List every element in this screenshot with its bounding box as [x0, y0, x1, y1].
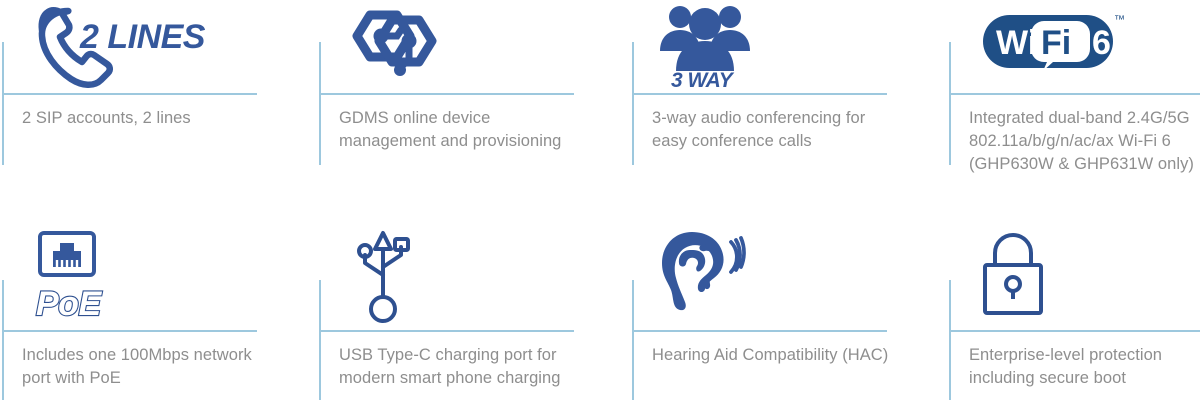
icon-zone: 3 WAY	[632, 0, 922, 94]
icon-zone	[632, 220, 922, 330]
vertical-rule	[949, 42, 951, 165]
vertical-rule	[2, 42, 4, 165]
icon-zone	[949, 220, 1200, 330]
icon-zone: Wi Fi 6 ™	[949, 0, 1200, 94]
vertical-rule	[2, 280, 4, 400]
icon-zone	[319, 0, 609, 94]
ear-hearing-aid-icon	[652, 228, 772, 323]
feature-caption: Enterprise-level protection including se…	[969, 344, 1200, 390]
phone-handset-icon: 2 LINES	[22, 3, 202, 91]
feature-caption: USB Type-C charging port for modern smar…	[339, 344, 591, 390]
horizontal-rule	[632, 330, 887, 332]
two-lines-wordmark: 2 LINES	[79, 18, 206, 56]
wifi-6-logo-icon: Wi Fi 6 ™	[969, 7, 1129, 87]
poe-wordmark: PoE	[36, 285, 102, 323]
horizontal-rule	[2, 93, 257, 95]
horizontal-rule	[949, 330, 1200, 332]
ethernet-port-icon: PoE	[22, 227, 142, 323]
trademark-icon: ™	[1114, 14, 1125, 26]
wifi-six-text: 6	[1092, 24, 1111, 62]
icon-zone: PoE	[2, 220, 292, 330]
vertical-rule	[632, 280, 634, 400]
feature-cell-gdms: GDMS online device management and provis…	[319, 0, 609, 210]
gdms-hexagon-circuit-icon	[339, 4, 459, 90]
feature-caption: 2 SIP accounts, 2 lines	[22, 107, 274, 130]
icon-zone: 2 LINES	[2, 0, 292, 94]
three-people-icon: 3 WAY	[652, 3, 782, 91]
feature-cell-hac: Hearing Aid Compatibility (HAC)	[632, 220, 922, 413]
vertical-rule	[319, 280, 321, 400]
feature-cell-poe: PoE Includes one 100Mbps network port wi…	[2, 220, 292, 413]
feature-cell-wifi6: Wi Fi 6 ™ Integrated dual-band 2.4G/5G 8…	[949, 0, 1200, 210]
horizontal-rule	[949, 93, 1200, 95]
feature-cell-three-way: 3 WAY 3-way audio conferencing for easy …	[632, 0, 922, 210]
feature-caption: Integrated dual-band 2.4G/5G 802.11a/b/g…	[969, 107, 1200, 176]
padlock-icon	[969, 227, 1079, 323]
feature-caption: GDMS online device management and provis…	[339, 107, 591, 153]
usb-trident-icon	[339, 225, 449, 325]
horizontal-rule	[319, 330, 574, 332]
feature-cell-secure-boot: Enterprise-level protection including se…	[949, 220, 1200, 413]
wifi-fi-text: Fi	[1041, 24, 1071, 62]
feature-caption: Includes one 100Mbps network port with P…	[22, 344, 274, 390]
feature-caption: Hearing Aid Compatibility (HAC)	[652, 344, 904, 367]
feature-caption: 3-way audio conferencing for easy confer…	[652, 107, 904, 153]
horizontal-rule	[632, 93, 887, 95]
vertical-rule	[632, 42, 634, 165]
feature-grid: 2 LINES 2 SIP accounts, 2 lines	[0, 0, 1200, 413]
horizontal-rule	[2, 330, 257, 332]
vertical-rule	[949, 280, 951, 400]
three-way-wordmark: 3 WAY	[671, 69, 735, 92]
feature-cell-two-lines: 2 LINES 2 SIP accounts, 2 lines	[2, 0, 292, 210]
icon-zone	[319, 220, 609, 330]
horizontal-rule	[319, 93, 574, 95]
feature-cell-usb-type-c: USB Type-C charging port for modern smar…	[319, 220, 609, 413]
vertical-rule	[319, 42, 321, 165]
